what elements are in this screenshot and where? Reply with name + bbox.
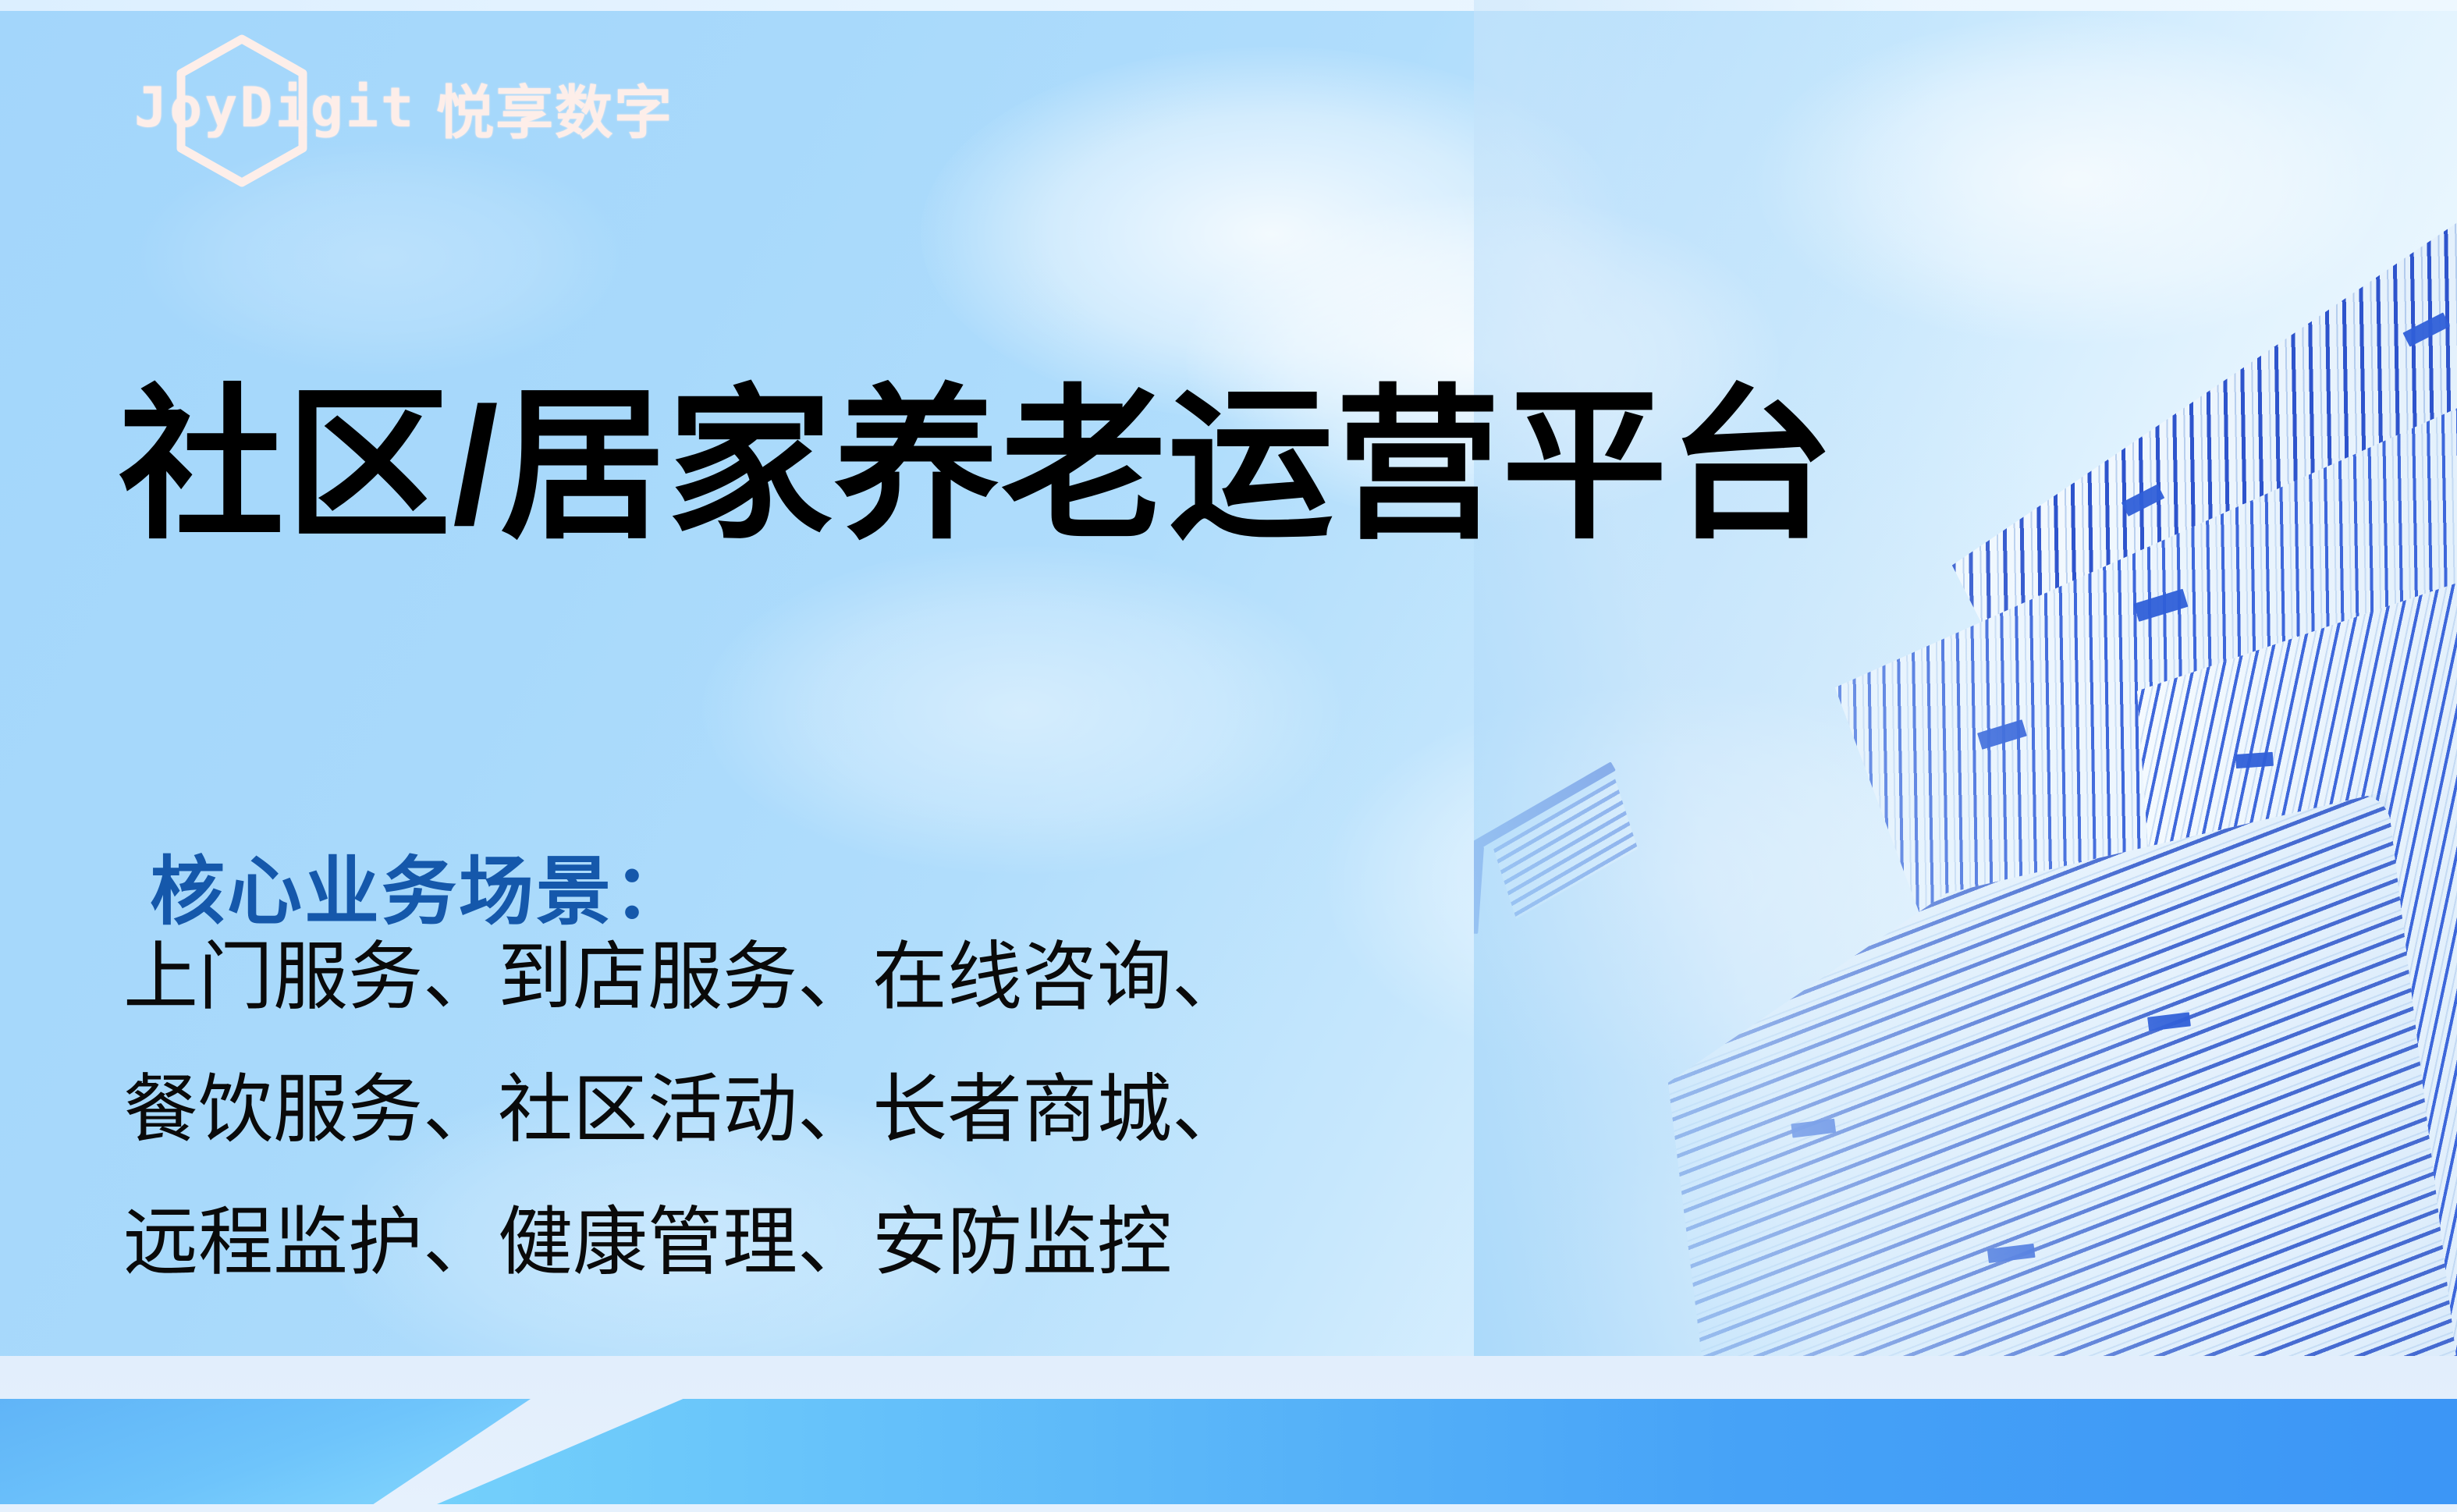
scenario-line: 远程监护、健康管理、安防监控 [123,1177,1247,1309]
band-shape-left [0,1399,531,1504]
bottom-decorative-band [0,1356,2457,1512]
canopy-slats [1493,779,1638,918]
skyscraper-photo [1474,0,2457,1397]
slide-canvas: JoyDigit 悦享数字 社区/居家养老运营平台 核心业务场景： 上门服务、到… [0,0,2457,1512]
canopy-strut [1474,846,1484,934]
logo-wordmark-en: JoyDigit [134,76,416,140]
scenario-list: 上门服务、到店服务、在线咨询、 餐饮服务、社区活动、长者商城、 远程监护、健康管… [123,911,1247,1309]
page-title: 社区/居家养老运营平台 [119,373,1836,558]
lit-window [2235,752,2274,768]
band-shape-right [437,1399,2457,1504]
scenario-line: 上门服务、到店服务、在线咨询、 [123,911,1247,1044]
logo-wordmark-cn: 悦享数字 [436,66,673,150]
brand-logo[interactable]: JoyDigit 悦享数字 [134,61,673,154]
building-canopy-detail [1474,761,1661,932]
scenario-line: 餐饮服务、社区活动、长者商城、 [123,1044,1247,1177]
building-tower-curved [1643,791,2457,1397]
window-stripes [1643,791,2457,1397]
